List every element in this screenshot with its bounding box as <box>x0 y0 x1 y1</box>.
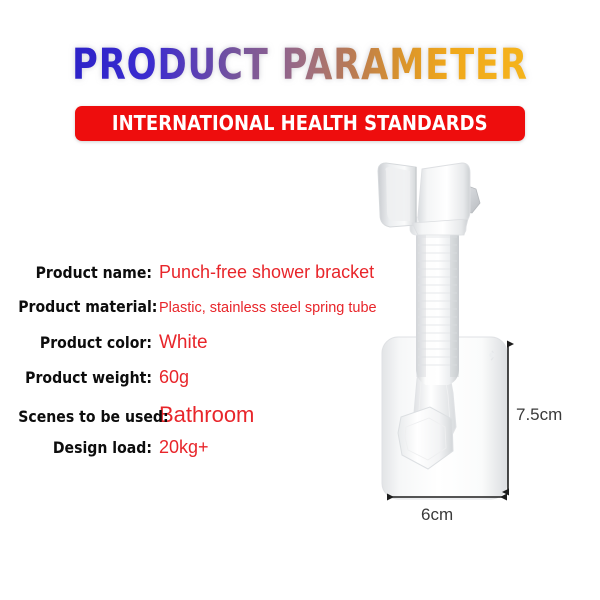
health-standards-banner: INTERNATIONAL HEALTH STANDARDS <box>75 106 524 141</box>
health-standards-banner-container: INTERNATIONAL HEALTH STANDARDS <box>0 106 600 141</box>
health-standards-banner-text: INTERNATIONAL HEALTH STANDARDS <box>112 112 488 134</box>
spec-row-product-name: Product name: Punch-free shower bracket <box>0 262 420 297</box>
spec-label-scenes-to-be-used: Scenes to be used: <box>18 407 152 426</box>
spec-label-product-color: Product color: <box>18 333 152 352</box>
specifications-list: Product name: Punch-free shower bracket … <box>0 262 420 472</box>
spec-row-product-material: Product material: Plastic, stainless ste… <box>0 297 420 332</box>
spec-value-product-material: Plastic, stainless steel spring tube <box>152 300 377 316</box>
height-dimension-label: 7.5cm <box>516 405 562 425</box>
spec-row-scenes-to-be-used: Scenes to be used: Bathroom <box>0 402 420 437</box>
page-title: PRODUCT PARAMETER <box>72 40 528 90</box>
cradle-head <box>378 163 480 235</box>
spec-row-product-color: Product color: White <box>0 332 420 367</box>
spec-value-product-name: Punch-free shower bracket <box>152 262 374 283</box>
spec-label-product-material: Product material: <box>18 297 152 316</box>
spec-label-product-name: Product name: <box>18 263 152 282</box>
spec-value-product-weight: 60g <box>152 367 189 388</box>
spec-label-design-load: Design load: <box>18 438 152 457</box>
spec-row-product-weight: Product weight: 60g <box>0 367 420 402</box>
spec-label-product-weight: Product weight: <box>18 368 152 387</box>
page-title-container: PRODUCT PARAMETER <box>0 40 600 90</box>
product-parameter-page: PRODUCT PARAMETER INTERNATIONAL HEALTH S… <box>0 0 600 600</box>
spec-value-product-color: White <box>152 332 208 354</box>
spec-value-design-load: 20kg+ <box>152 437 209 458</box>
flexible-ribbed-tube <box>416 229 459 385</box>
product-image <box>360 155 535 505</box>
width-dimension-label: 6cm <box>421 505 453 525</box>
spec-row-design-load: Design load: 20kg+ <box>0 437 420 472</box>
